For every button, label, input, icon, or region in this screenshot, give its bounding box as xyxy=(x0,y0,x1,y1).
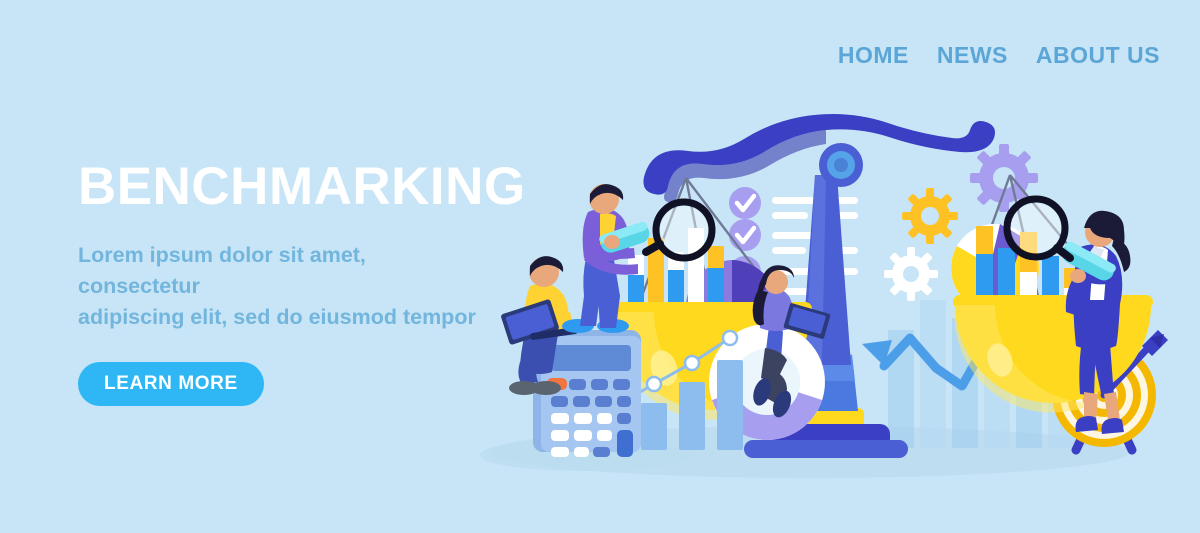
learn-more-button[interactable]: LEARN MORE xyxy=(78,362,264,406)
nav-link-about-us[interactable]: ABOUT US xyxy=(1036,42,1160,69)
hero-subcopy: Lorem ipsum dolor sit amet, consectetur … xyxy=(78,240,478,334)
page-title: BENCHMARKING xyxy=(78,160,548,214)
gear-white-icon xyxy=(884,247,938,301)
gear-yellow-icon xyxy=(902,188,958,244)
check-circle-2 xyxy=(729,219,761,251)
top-navigation: HOME NEWS ABOUT US xyxy=(838,42,1160,69)
hero-copy: BENCHMARKING Lorem ipsum dolor sit amet,… xyxy=(78,160,548,406)
nav-link-home[interactable]: HOME xyxy=(838,42,909,69)
check-circle-1 xyxy=(729,187,761,219)
nav-link-news[interactable]: NEWS xyxy=(937,42,1008,69)
hero-banner: HOME NEWS ABOUT US BENCHMARKING Lorem ip… xyxy=(0,0,1200,533)
hero-subcopy-line2: adipiscing elit, sed do eiusmod tempor xyxy=(78,305,476,329)
hero-subcopy-line1: Lorem ipsum dolor sit amet, consectetur xyxy=(78,243,366,298)
